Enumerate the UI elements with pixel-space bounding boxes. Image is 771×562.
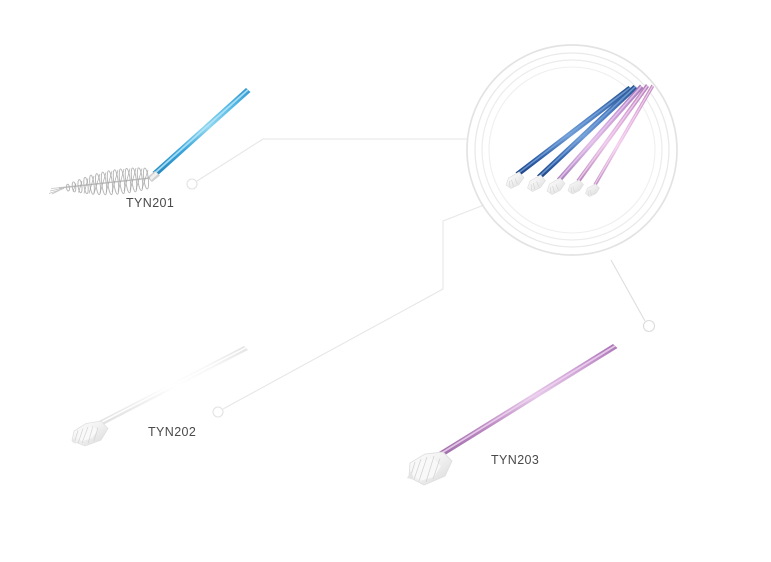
inset-ring-2 bbox=[475, 53, 669, 247]
connector-tyn202 bbox=[213, 205, 484, 417]
inset-brush-group bbox=[506, 84, 654, 197]
tyn201-bristle-head bbox=[49, 168, 150, 195]
inset-brush-1 bbox=[506, 86, 633, 189]
product-label-tyn202: TYN202 bbox=[148, 425, 196, 439]
connector-lines bbox=[187, 139, 655, 417]
connector-node-tyn203 bbox=[644, 321, 655, 332]
diagram-svg bbox=[0, 0, 771, 562]
product-label-tyn203: TYN203 bbox=[491, 453, 539, 467]
connector-node-tyn202 bbox=[213, 407, 223, 417]
inset-ring-outer bbox=[467, 45, 677, 255]
tyn202-broom-head bbox=[72, 421, 108, 446]
connector-tyn201 bbox=[187, 139, 467, 189]
connector-node-tyn201 bbox=[187, 179, 197, 189]
product-diagram-canvas: TYN201 TYN202 TYN203 bbox=[0, 0, 771, 562]
connector-tyn203 bbox=[611, 260, 655, 332]
product-label-tyn201: TYN201 bbox=[126, 196, 174, 210]
tyn203-broom-head bbox=[407, 452, 452, 485]
product-tyn201 bbox=[49, 88, 251, 195]
inset-rings bbox=[467, 45, 677, 255]
